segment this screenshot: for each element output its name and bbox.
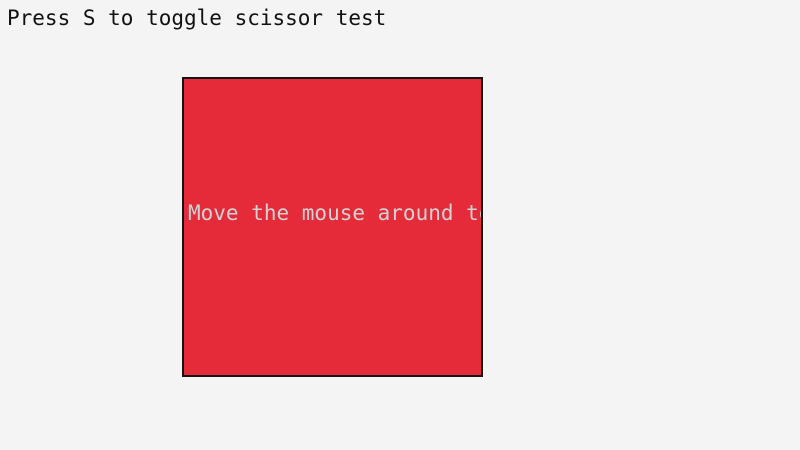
application-canvas: Press S to toggle scissor test Move the … bbox=[0, 0, 800, 450]
scissor-clipped-text: Move the mouse around to r bbox=[188, 201, 483, 225]
scissor-rectangle[interactable]: Move the mouse around to r bbox=[182, 77, 483, 377]
instruction-label: Press S to toggle scissor test bbox=[7, 6, 386, 30]
